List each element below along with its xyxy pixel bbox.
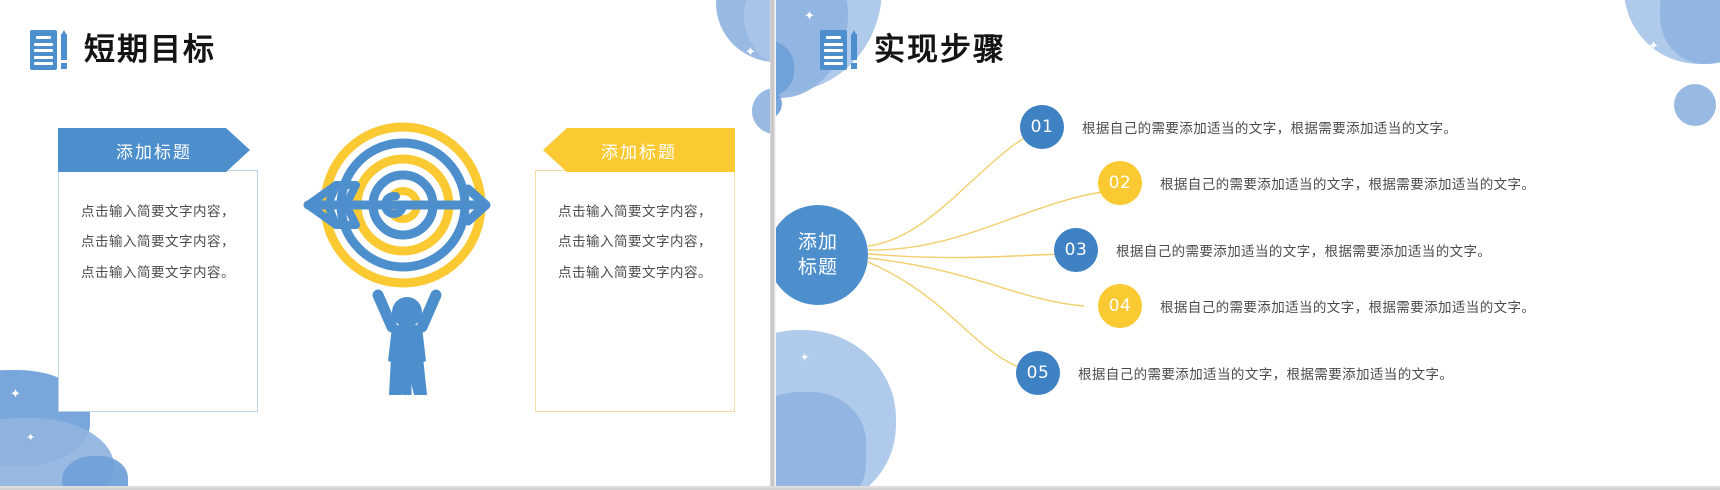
step-number: 04 [1109,296,1132,316]
step-text: 根据自己的需要添加适当的文字，根据需要添加适当的文字。 [1160,296,1535,316]
decor-sparkle: ✦ [745,46,756,59]
step-text: 根据自己的需要添加适当的文字，根据需要添加适当的文字。 [1160,173,1535,193]
step-number: 05 [1027,363,1050,383]
goal-card-right-body: 点击输入简要文字内容，点击输入简要文字内容，点击输入简要文字内容。 [535,170,735,412]
hub-line-1: 添加 [798,230,838,255]
slide-short-term-goals[interactable]: ✦ ✦ ✦ 短期目标 点击输入简要文字内容，点击输入简要 [0,0,772,490]
step-bullet: 05 [1016,351,1060,395]
goal-card-left-ribbon[interactable]: 添加标题 [58,128,250,172]
step-item[interactable]: 01 根据自己的需要添加适当的文字，根据需要添加适当的文字。 [1020,105,1457,149]
decor-blob [752,88,772,134]
step-bullet: 03 [1054,228,1098,272]
step-number: 01 [1031,117,1054,137]
decor-sparkle: ✦ [10,388,21,401]
step-bullet: 01 [1020,105,1064,149]
slide-implementation-steps[interactable]: ✦ ✦ ✦ ✦ 实现步骤 [776,0,1720,490]
slide-header: 短期目标 [30,28,216,72]
step-text: 根据自己的需要添加适当的文字，根据需要添加适当的文字。 [1078,363,1453,383]
goal-card-right[interactable]: 点击输入简要文字内容，点击输入简要文字内容，点击输入简要文字内容。 添加标题 [535,128,735,412]
step-text: 根据自己的需要添加适当的文字，根据需要添加适当的文字。 [1116,240,1491,260]
step-item[interactable]: 04 根据自己的需要添加适当的文字，根据需要添加适当的文字。 [1098,284,1535,328]
goal-card-right-ribbon-label: 添加标题 [601,138,677,163]
target-arrow-person-icon [278,105,528,395]
step-bullet: 02 [1098,161,1142,205]
step-item[interactable]: 02 根据自己的需要添加适当的文字，根据需要添加适当的文字。 [1098,161,1535,205]
step-bullet: 04 [1098,284,1142,328]
document-pen-icon [30,28,70,72]
decor-blob [62,456,128,490]
page-title: 短期目标 [84,35,216,66]
slide-deck-stage: ✦ ✦ ✦ 短期目标 点击输入简要文字内容，点击输入简要 [0,0,1720,490]
step-item[interactable]: 03 根据自己的需要添加适当的文字，根据需要添加适当的文字。 [1054,228,1491,272]
goal-card-left[interactable]: 点击输入简要文字内容，点击输入简要文字内容，点击输入简要文字内容。 添加标题 [58,128,258,412]
step-item[interactable]: 05 根据自己的需要添加适当的文字，根据需要添加适当的文字。 [1016,351,1453,395]
stage-bottom-edge [0,486,1720,490]
goal-card-right-text: 点击输入简要文字内容，点击输入简要文字内容，点击输入简要文字内容。 [552,197,718,288]
goal-card-left-ribbon-label: 添加标题 [116,138,192,163]
decor-sparkle: ✦ [26,432,35,443]
goal-card-left-body: 点击输入简要文字内容，点击输入简要文字内容，点击输入简要文字内容。 [58,170,258,412]
hub-line-2: 标题 [798,255,838,280]
goal-card-right-ribbon[interactable]: 添加标题 [543,128,735,172]
step-number: 03 [1065,240,1088,260]
goal-card-left-text: 点击输入简要文字内容，点击输入简要文字内容，点击输入简要文字内容。 [75,197,241,288]
step-text: 根据自己的需要添加适当的文字，根据需要添加适当的文字。 [1082,117,1457,137]
step-number: 02 [1109,173,1132,193]
